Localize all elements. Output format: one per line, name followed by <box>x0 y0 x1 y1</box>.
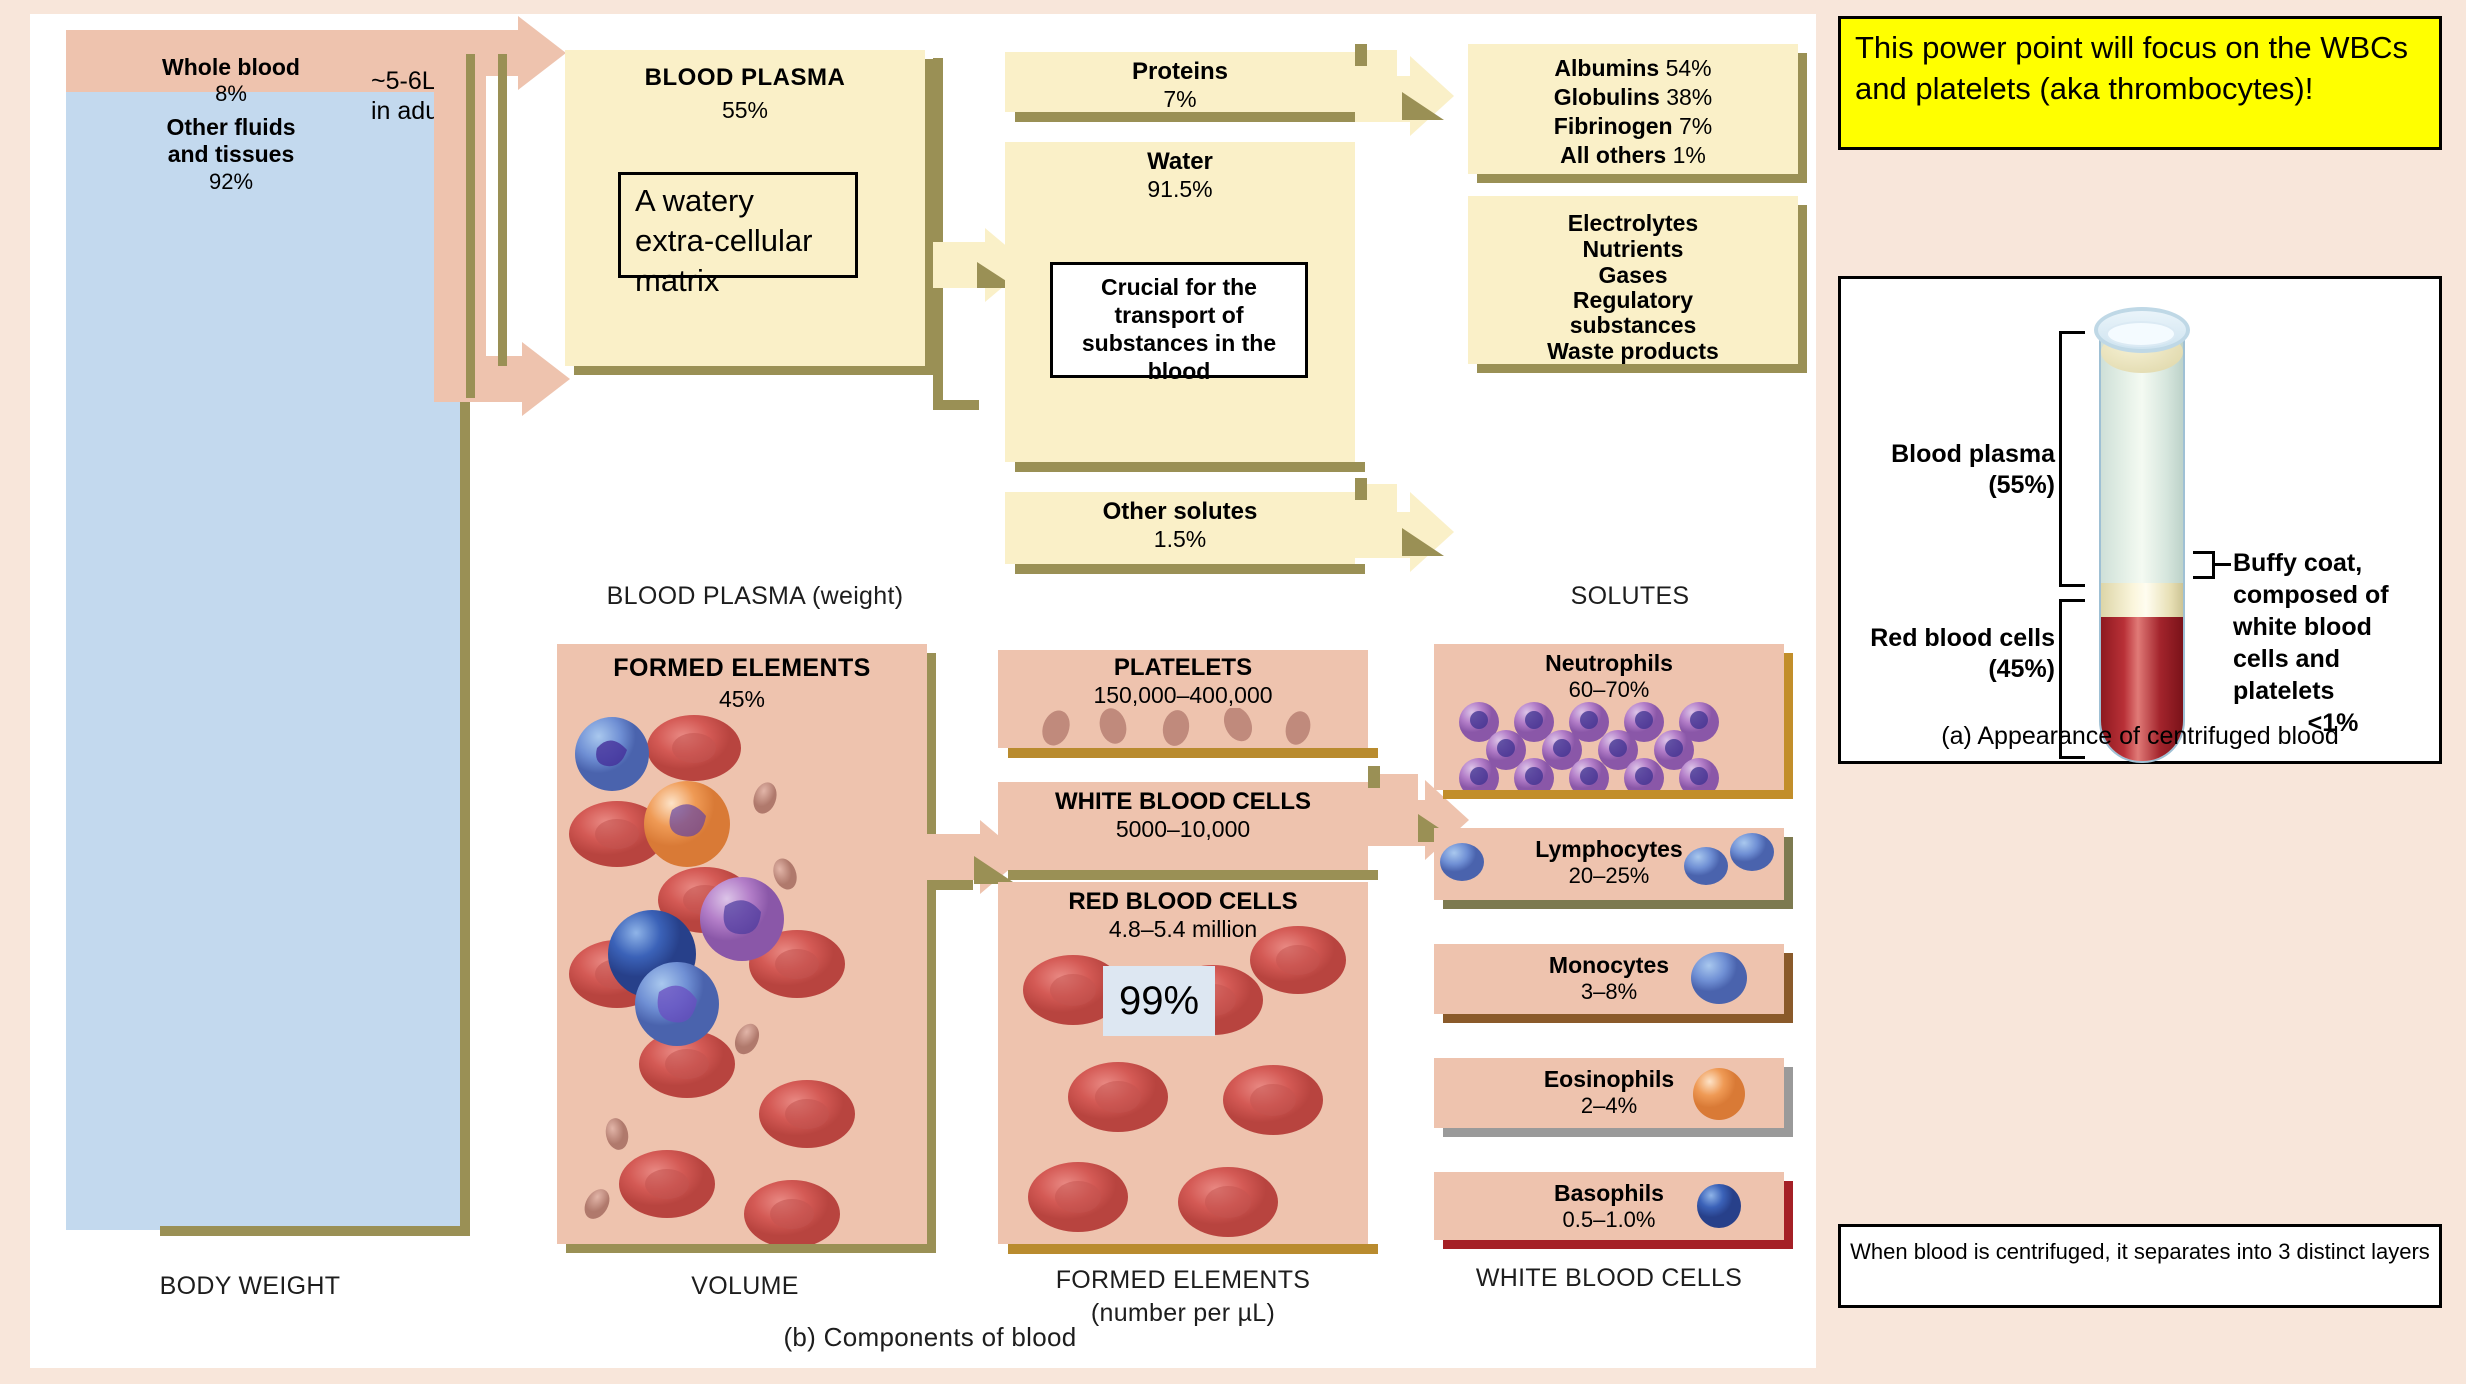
proteins-arrow-head-shadow <box>1402 92 1444 120</box>
solutes-arrow-notch <box>1355 478 1367 500</box>
tube-rim <box>2094 307 2190 353</box>
blood-cells-illustration <box>557 644 927 1244</box>
proteins-arrow-notch <box>1355 44 1367 66</box>
arrow-trunk-shadow <box>466 54 475 398</box>
solute-item: Regulatorysubstances <box>1468 288 1798 338</box>
platelets-box: PLATELETS 150,000–400,000 <box>998 650 1368 748</box>
white-blood-cells-box-shadow <box>1008 870 1378 880</box>
neutrophil-icons <box>1434 700 1784 790</box>
other-fluids-band <box>66 92 460 1230</box>
plasma-label: Blood plasma (55%) <box>1855 439 2055 501</box>
solutes-list-box: Electrolytes Nutrients Gases Regulatorys… <box>1468 196 1798 364</box>
rbc-label: Red blood cells (45%) <box>1855 623 2055 685</box>
test-tube-illustration <box>2099 307 2185 777</box>
solute-item: Electrolytes <box>1468 210 1798 236</box>
components-of-blood-figure: Whole blood 8% Other fluids and tissues … <box>30 14 1816 1368</box>
label-formed-elements: FORMED ELEMENTS (number per µL) <box>998 1264 1368 1330</box>
label-body-weight: BODY WEIGHT <box>50 1272 450 1301</box>
label-solutes: SOLUTES <box>1460 582 1800 611</box>
neutrophils-card: Neutrophils 60–70% <box>1434 644 1784 790</box>
centrifuged-blood-panel: Blood plasma (55%) Red blood cells (45%)… <box>1838 276 2442 764</box>
platelets-box-shadow <box>1008 748 1378 758</box>
wbc-arrow-notch <box>1368 766 1380 788</box>
lymphocytes-card: Lymphocytes 20–25% <box>1434 828 1784 900</box>
other-fluids-label: Other fluids and tissues 92% <box>66 114 396 195</box>
formed-elements-box: FORMED ELEMENTS 45% <box>557 644 927 1244</box>
protein-row: Albumins 54% <box>1468 54 1798 83</box>
tube-body <box>2099 333 2185 763</box>
red-blood-cells-box-shadow <box>1008 1244 1378 1254</box>
plasma-branch-line-bottom <box>933 286 943 410</box>
plasma-branch-line-foot <box>933 400 979 410</box>
arrow-trunk-shadow-2 <box>498 54 507 366</box>
tube-rim-inner <box>2106 321 2176 347</box>
tube-buffy-coat-layer <box>2101 583 2183 617</box>
whole-blood-label: Whole blood 8% <box>66 54 396 107</box>
basophils-card: Basophils 0.5–1.0% <box>1434 1172 1784 1240</box>
water-transport-note: Crucial for the transport of substances … <box>1050 262 1308 378</box>
monocyte-icon <box>1434 944 1784 1014</box>
water-box-shadow <box>1015 462 1365 472</box>
tube-caption: (a) Appearance of centrifuged blood <box>1841 722 2439 751</box>
proteins-box: Proteins 7% <box>1005 52 1355 112</box>
plasma-branch-line-top <box>933 58 943 258</box>
powerpoint-focus-note: This power point will focus on the WBCs … <box>1838 16 2442 150</box>
solute-item: Waste products <box>1468 338 1798 364</box>
buffy-coat-label: Buffy coat, composed of white blood cell… <box>2233 547 2433 739</box>
basophil-icon <box>1434 1172 1784 1240</box>
buffy-leader-line <box>2215 563 2231 566</box>
slide-canvas: Whole blood 8% Other fluids and tissues … <box>0 0 2466 1384</box>
rbc-percentage-callout: 99% <box>1103 966 1215 1036</box>
platelet-icons <box>998 708 1368 748</box>
eosinophil-icon <box>1434 1058 1784 1128</box>
monocytes-card: Monocytes 3–8% <box>1434 944 1784 1014</box>
solute-item: Gases <box>1468 262 1798 288</box>
formed-elements-arrow-foot <box>927 880 973 890</box>
figure-caption-b: (b) Components of blood <box>630 1322 1230 1353</box>
label-blood-plasma-weight: BLOOD PLASMA (weight) <box>590 582 920 611</box>
body-weight-frame-bottom <box>160 1226 470 1236</box>
label-volume: VOLUME <box>560 1272 930 1301</box>
plasma-bracket <box>2059 331 2085 587</box>
arrow-head-to-plasma <box>518 16 566 90</box>
proteins-box-shadow <box>1015 112 1365 122</box>
whole-blood-arrow-stem-bottom <box>434 356 522 402</box>
protein-row: All others 1% <box>1468 141 1798 170</box>
white-blood-cells-box: WHITE BLOOD CELLS 5000–10,000 <box>998 782 1368 870</box>
label-white-blood-cells: WHITE BLOOD CELLS <box>1434 1264 1784 1293</box>
protein-fractions-box: Albumins 54% Globulins 38% Fibrinogen 7%… <box>1468 44 1798 174</box>
arrow-head-to-formed-elements <box>522 342 570 416</box>
eosinophils-card: Eosinophils 2–4% <box>1434 1058 1784 1128</box>
other-solutes-box: Other solutes 1.5% <box>1005 492 1355 564</box>
buffy-bracket <box>2193 551 2215 579</box>
solutes-arrow-head-shadow <box>1402 528 1444 556</box>
centrifuge-explanation-note: When blood is centrifuged, it separates … <box>1838 1224 2442 1308</box>
whole-blood-arrow-trunk <box>434 30 486 402</box>
red-blood-cells-box: RED BLOOD CELLS 4.8–5.4 million <box>998 882 1368 1244</box>
solute-item: Nutrients <box>1468 236 1798 262</box>
lymphocyte-icons <box>1434 828 1784 900</box>
body-weight-column: Whole blood 8% Other fluids and tissues … <box>66 30 466 1230</box>
protein-row: Fibrinogen 7% <box>1468 112 1798 141</box>
other-solutes-box-shadow <box>1015 564 1365 574</box>
watery-matrix-note: A watery extra-cellular matrix <box>618 172 858 278</box>
protein-row: Globulins 38% <box>1468 83 1798 112</box>
